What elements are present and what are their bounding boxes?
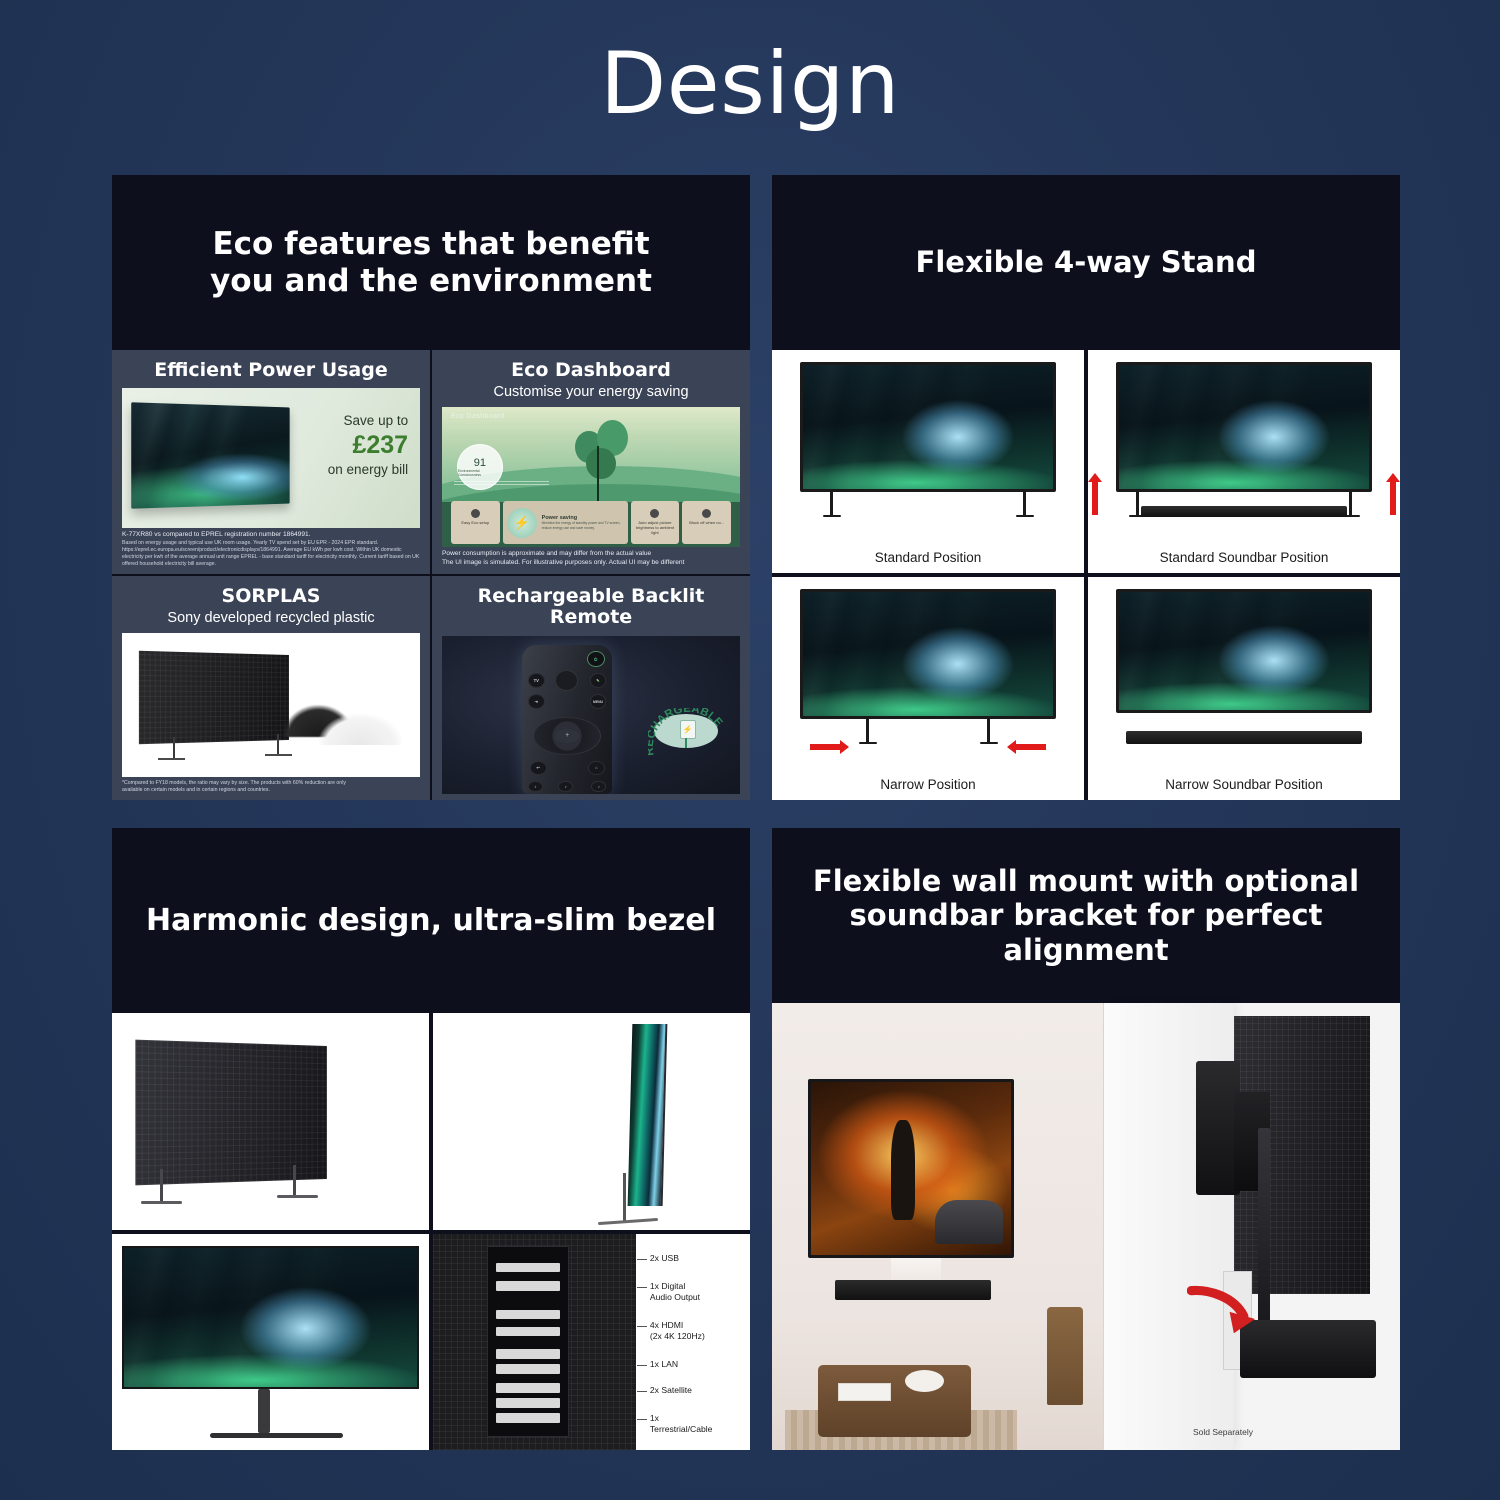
eco-card-label: Easy Eco setup (451, 518, 500, 527)
design-page: Design Eco features that benefit you and… (0, 0, 1500, 1500)
eco-cell-sorplas[interactable]: SORPLAS Sony developed recycled plastic … (112, 576, 430, 800)
mic-button-icon (555, 670, 578, 691)
harmonic-panel-header: Harmonic design, ultra-slim bezel (112, 828, 750, 1013)
panel-wall-mount: Flexible wall mount with optional soundb… (772, 828, 1400, 1450)
tv-illustration (800, 362, 1057, 517)
eco-cell-subtitle: Customise your energy saving (442, 384, 740, 400)
save-amount: £237 (289, 431, 408, 460)
harmonic-cell-ports[interactable]: 2x USB 1x Digital Audio Output 4x HDMI (… (433, 1234, 750, 1451)
eco-card-ambient-light: Auto adjust picture brightness to ambien… (631, 501, 680, 544)
hands-energy-icon (507, 508, 537, 538)
panel-eco-features: Eco features that benefit you and the en… (112, 175, 750, 800)
assistant-button-icon: ✎ (590, 673, 607, 688)
eco-cell-rechargeable-remote[interactable]: Rechargeable Backlit Remote ⏻ TV ✎ ⇥ MEN… (432, 576, 750, 800)
app-button-2-icon: ♪ (558, 781, 573, 793)
stand-position-caption: Narrow Soundbar Position (1165, 777, 1323, 794)
bowl (905, 1370, 945, 1392)
eco-panel-header: Eco features that benefit you and the en… (112, 175, 750, 350)
app-button-1-icon: ♪ (528, 781, 543, 793)
tv-illustration (1116, 589, 1373, 744)
eco-dashboard-image: Eco Dashboard 91 Environmental Conscious… (442, 407, 740, 547)
save-prefix: Save up to (344, 413, 409, 428)
eco-panel-heading: Eco features that benefit you and the en… (210, 226, 652, 299)
port-callout-terrestrial-cable: 1x Terrestrial/Cable (650, 1413, 713, 1434)
gauge-caption: Environmental Consciousness (458, 469, 502, 477)
eco-card-easy-setup: Easy Eco setup (451, 501, 500, 544)
books (838, 1383, 891, 1401)
arrow-up-left-icon (1092, 481, 1098, 515)
footnote-line-2: available on certain models and in certa… (122, 787, 420, 794)
recycled-plastic-light-pile (319, 714, 402, 746)
tv-button: TV (528, 673, 545, 688)
rechargeable-remote-image: ⏻ TV ✎ ⇥ MENU + ↩ ⌂ ♪ ♪ (442, 636, 740, 794)
sorplas-image (122, 633, 420, 777)
eco-cell-title: Efficient Power Usage (122, 360, 420, 381)
eco-cell-footnote: K-77XR80 vs compared to EPREL registrati… (122, 531, 420, 568)
soundbar (1141, 506, 1347, 517)
footnote-line-1: Power consumption is approximate and may… (442, 550, 740, 559)
eco-cell-efficient-power-usage[interactable]: Efficient Power Usage Save up to £237 on… (112, 350, 430, 574)
port-callout-usb: 2x USB (650, 1253, 679, 1264)
home-button-icon: ⌂ (588, 761, 605, 774)
dpad-center-button: + (555, 729, 580, 743)
eco-card-power-saving: Power saving Minimise the energy of stan… (503, 501, 628, 544)
harmonic-cell-side-profile[interactable] (433, 1013, 750, 1230)
harmonic-panel-heading: Harmonic design, ultra-slim bezel (146, 903, 716, 938)
eco-heading-line-2: you and the environment (210, 263, 652, 299)
tv-illustration (800, 589, 1057, 744)
callout-line-1: 1x LAN (650, 1359, 678, 1369)
rechargeable-badge-text: RECHARGEABLE (648, 708, 728, 788)
port-callout-lan: 1x LAN (650, 1359, 678, 1370)
tv-side-profile-image (627, 1024, 667, 1206)
power-button-icon: ⏻ (587, 651, 605, 667)
back-button-icon: ↩ (530, 761, 547, 774)
callout-line-2: Audio Output (650, 1292, 700, 1302)
eco-card-auto-off: Block off when no... (682, 501, 731, 544)
harmonic-cell-rear-view[interactable] (112, 1013, 429, 1230)
eco-card-label: Auto adjust picture brightness to ambien… (631, 518, 680, 537)
stand-position-caption: Narrow Position (880, 777, 975, 794)
eco-dashboard-cards: Easy Eco setup Power saving Minimise the… (451, 501, 731, 544)
input-button-icon: ⇥ (528, 694, 545, 709)
eco-dashboard-ui-label: Eco Dashboard (451, 413, 504, 420)
footnote-line-1: K-77XR80 vs compared to EPREL registrati… (122, 531, 420, 540)
callout-line-1: 2x Satellite (650, 1385, 692, 1395)
save-suffix: on energy bill (328, 462, 408, 477)
eco-card-label: Block off when no... (682, 518, 731, 527)
efficient-power-usage-image: Save up to £237 on energy bill (122, 388, 420, 528)
callout-line-2: Terrestrial/Cable (650, 1424, 713, 1434)
stand-panel-header: Flexible 4-way Stand (772, 175, 1400, 350)
harmonic-cell-front-view[interactable] (112, 1234, 429, 1451)
eco-cell-title: Eco Dashboard (442, 360, 740, 381)
living-room-scene[interactable] (772, 1003, 1103, 1450)
panel-flexible-stand: Flexible 4-way Stand Standard Position (772, 175, 1400, 800)
remote-body: ⏻ TV ✎ ⇥ MENU + ↩ ⌂ ♪ ♪ (522, 645, 611, 794)
gauge-value: 91 (474, 457, 486, 469)
soundbar (1240, 1320, 1376, 1378)
port-callout-digital-audio-output: 1x Digital Audio Output (650, 1281, 700, 1302)
remote-title-line-2: Remote (550, 606, 632, 628)
wall-heading-line-2: soundbar bracket for perfect alignment (850, 898, 1323, 966)
stand-position-caption: Standard Soundbar Position (1160, 550, 1329, 567)
arrow-up-right-icon (1390, 481, 1396, 515)
soundbar (1126, 731, 1362, 744)
harmonic-image-grid: 2x USB 1x Digital Audio Output 4x HDMI (… (112, 1013, 750, 1450)
tv-ports-image: 2x USB 1x Digital Audio Output 4x HDMI (… (433, 1234, 750, 1451)
port-callout-hdmi: 4x HDMI (2x 4K 120Hz) (650, 1320, 705, 1341)
stand-cell-standard-soundbar-position[interactable]: Standard Soundbar Position (1088, 350, 1400, 573)
dpad-control: + (533, 717, 601, 756)
wall-mount-images: Sold Separately (772, 1003, 1400, 1450)
callout-line-1: 1x Digital (650, 1281, 685, 1291)
tree-illustration (573, 418, 633, 488)
callout-line-1: 1x (650, 1413, 659, 1423)
port-callout-list: 2x USB 1x Digital Audio Output 4x HDMI (… (636, 1234, 750, 1451)
eco-card-body: Minimise the energy of standby power and… (542, 521, 624, 531)
tv-illustration (1116, 362, 1373, 517)
side-stool (1047, 1307, 1083, 1405)
footnote-line-2: The UI image is simulated. For illustrat… (442, 559, 740, 568)
callout-line-2: (2x 4K 120Hz) (650, 1331, 705, 1341)
stand-cell-narrow-position[interactable]: Narrow Position (772, 577, 1084, 800)
arrow-left-inward-icon (1016, 744, 1046, 750)
svg-text:RECHARGEABLE: RECHARGEABLE (648, 708, 725, 756)
wall-bracket-detail[interactable]: Sold Separately (1103, 1003, 1400, 1450)
panel-harmonic-design: Harmonic design, ultra-slim bezel (112, 828, 750, 1450)
stand-cell-narrow-soundbar-position[interactable]: Narrow Soundbar Position (1088, 577, 1400, 800)
wall-panel-heading: Flexible wall mount with optional soundb… (798, 864, 1374, 967)
footnote-line-1: *Compared to FY18 models, the ratio may … (122, 780, 420, 787)
soundbar (835, 1280, 991, 1300)
eco-cell-title: Rechargeable Backlit Remote (442, 586, 740, 629)
curved-arrow-icon (1187, 1271, 1258, 1351)
wall-heading-line-1: Flexible wall mount with optional (813, 864, 1359, 898)
app-button-3-icon: ♪ (591, 781, 606, 793)
footnote-line-2: Based on energy usage and typical use UK… (122, 540, 420, 568)
eco-cell-eco-dashboard[interactable]: Eco Dashboard Customise your energy savi… (432, 350, 750, 574)
stand-cell-standard-position[interactable]: Standard Position (772, 350, 1084, 573)
tv-aurora-thumbnail (131, 402, 289, 508)
callout-line-1: 2x USB (650, 1253, 679, 1263)
menu-button: MENU (590, 694, 607, 709)
arrow-right-inward-icon (810, 744, 840, 750)
callout-line-1: 4x HDMI (650, 1320, 683, 1330)
stand-position-caption: Standard Position (875, 550, 982, 567)
savings-callout: Save up to £237 on energy bill (289, 411, 408, 480)
sold-separately-note: Sold Separately (1193, 1427, 1253, 1437)
page-title: Design (0, 34, 1500, 134)
remote-title-line-1: Rechargeable Backlit (478, 585, 705, 607)
port-callout-satellite: 2x Satellite (650, 1385, 692, 1396)
tv-rear-view-image (136, 1040, 327, 1185)
eco-cell-footnote: *Compared to FY18 models, the ratio may … (122, 780, 420, 794)
eco-heading-line-1: Eco features that benefit (212, 226, 649, 262)
tv-rear-panel (139, 651, 289, 745)
tv-front-view-image (122, 1246, 420, 1389)
port-bay (487, 1246, 569, 1437)
eco-feature-grid: Efficient Power Usage Save up to £237 on… (112, 350, 750, 800)
eco-cell-title: SORPLAS (122, 586, 420, 607)
tv-wall-mounted-image (808, 1079, 1013, 1258)
stand-position-grid: Standard Position Standard Soundbar Posi… (772, 350, 1400, 800)
wall-mount-rail (1258, 1128, 1270, 1343)
rechargeable-badge: RECHARGEABLE (648, 708, 728, 751)
stand-panel-heading: Flexible 4-way Stand (916, 245, 1257, 279)
wall-panel-header: Flexible wall mount with optional soundb… (772, 828, 1400, 1003)
eco-cell-subtitle: Sony developed recycled plastic (122, 610, 420, 626)
eco-cell-footnote: Power consumption is approximate and may… (442, 550, 740, 568)
